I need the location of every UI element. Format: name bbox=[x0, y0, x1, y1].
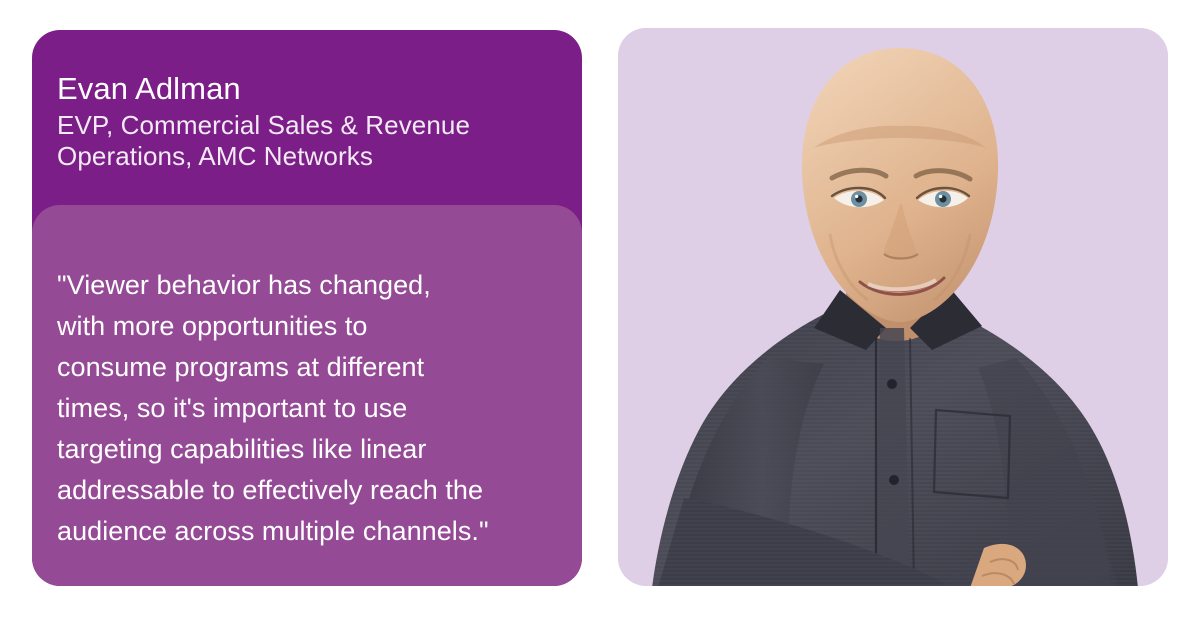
quote-graphic: Evan Adlman EVP, Commercial Sales & Reve… bbox=[0, 0, 1200, 627]
speaker-title: EVP, Commercial Sales & Revenue Operatio… bbox=[57, 110, 556, 172]
speaker-name: Evan Adlman bbox=[57, 70, 556, 108]
quote-panel: "Viewer behavior has changed, with more … bbox=[32, 205, 582, 586]
quote-text: "Viewer behavior has changed, with more … bbox=[57, 265, 558, 552]
speaker-quote-card: Evan Adlman EVP, Commercial Sales & Reve… bbox=[32, 30, 582, 586]
portrait-photo bbox=[618, 28, 1168, 586]
speaker-identity-block: Evan Adlman EVP, Commercial Sales & Reve… bbox=[32, 30, 582, 172]
portrait-card bbox=[618, 28, 1168, 586]
